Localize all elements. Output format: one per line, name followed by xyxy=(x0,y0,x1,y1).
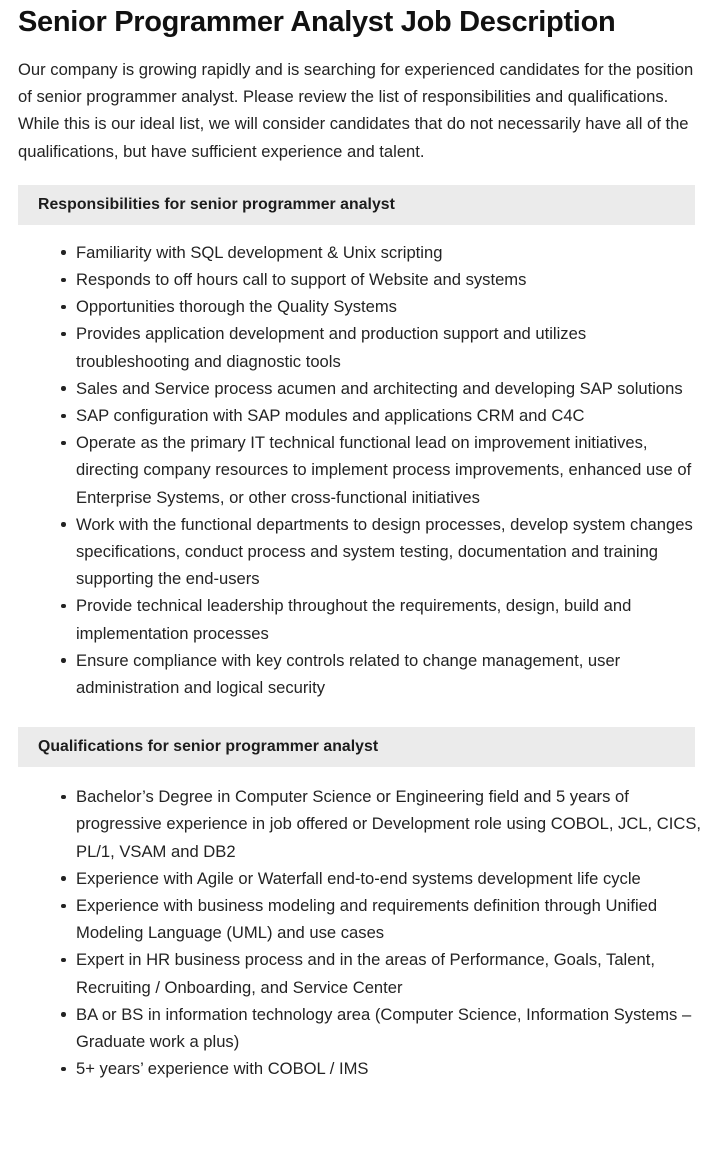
list-item: Responds to off hours call to support of… xyxy=(18,266,702,293)
list-item: Experience with business modeling and re… xyxy=(18,892,702,946)
list-item: Bachelor’s Degree in Computer Science or… xyxy=(18,783,702,865)
job-description-page: Senior Programmer Analyst Job Descriptio… xyxy=(0,4,720,1083)
qualifications-section-header: Qualifications for senior programmer ana… xyxy=(18,727,695,767)
page-title: Senior Programmer Analyst Job Descriptio… xyxy=(18,4,702,40)
list-item: SAP configuration with SAP modules and a… xyxy=(18,402,702,429)
responsibilities-list: Familiarity with SQL development & Unix … xyxy=(18,239,702,701)
list-item: Work with the functional departments to … xyxy=(18,511,702,593)
responsibilities-section: Responsibilities for senior programmer a… xyxy=(18,185,702,701)
list-item: BA or BS in information technology area … xyxy=(18,1001,702,1055)
list-item: Opportunities thorough the Quality Syste… xyxy=(18,293,702,320)
responsibilities-section-heading: Responsibilities for senior programmer a… xyxy=(38,196,395,214)
list-item: Provide technical leadership throughout … xyxy=(18,592,702,646)
list-item: 5+ years’ experience with COBOL / IMS xyxy=(18,1055,702,1082)
list-item: Sales and Service process acumen and arc… xyxy=(18,375,702,402)
list-item: Familiarity with SQL development & Unix … xyxy=(18,239,702,266)
responsibilities-section-header: Responsibilities for senior programmer a… xyxy=(18,185,695,225)
list-item: Operate as the primary IT technical func… xyxy=(18,429,702,511)
list-item: Expert in HR business process and in the… xyxy=(18,946,702,1000)
list-item: Experience with Agile or Waterfall end-t… xyxy=(18,865,702,892)
intro-paragraph: Our company is growing rapidly and is se… xyxy=(18,56,698,165)
list-item: Ensure compliance with key controls rela… xyxy=(18,647,702,701)
qualifications-section: Qualifications for senior programmer ana… xyxy=(18,727,702,1082)
qualifications-list: Bachelor’s Degree in Computer Science or… xyxy=(18,783,702,1082)
list-item: Provides application development and pro… xyxy=(18,320,702,374)
qualifications-section-heading: Qualifications for senior programmer ana… xyxy=(38,738,378,756)
